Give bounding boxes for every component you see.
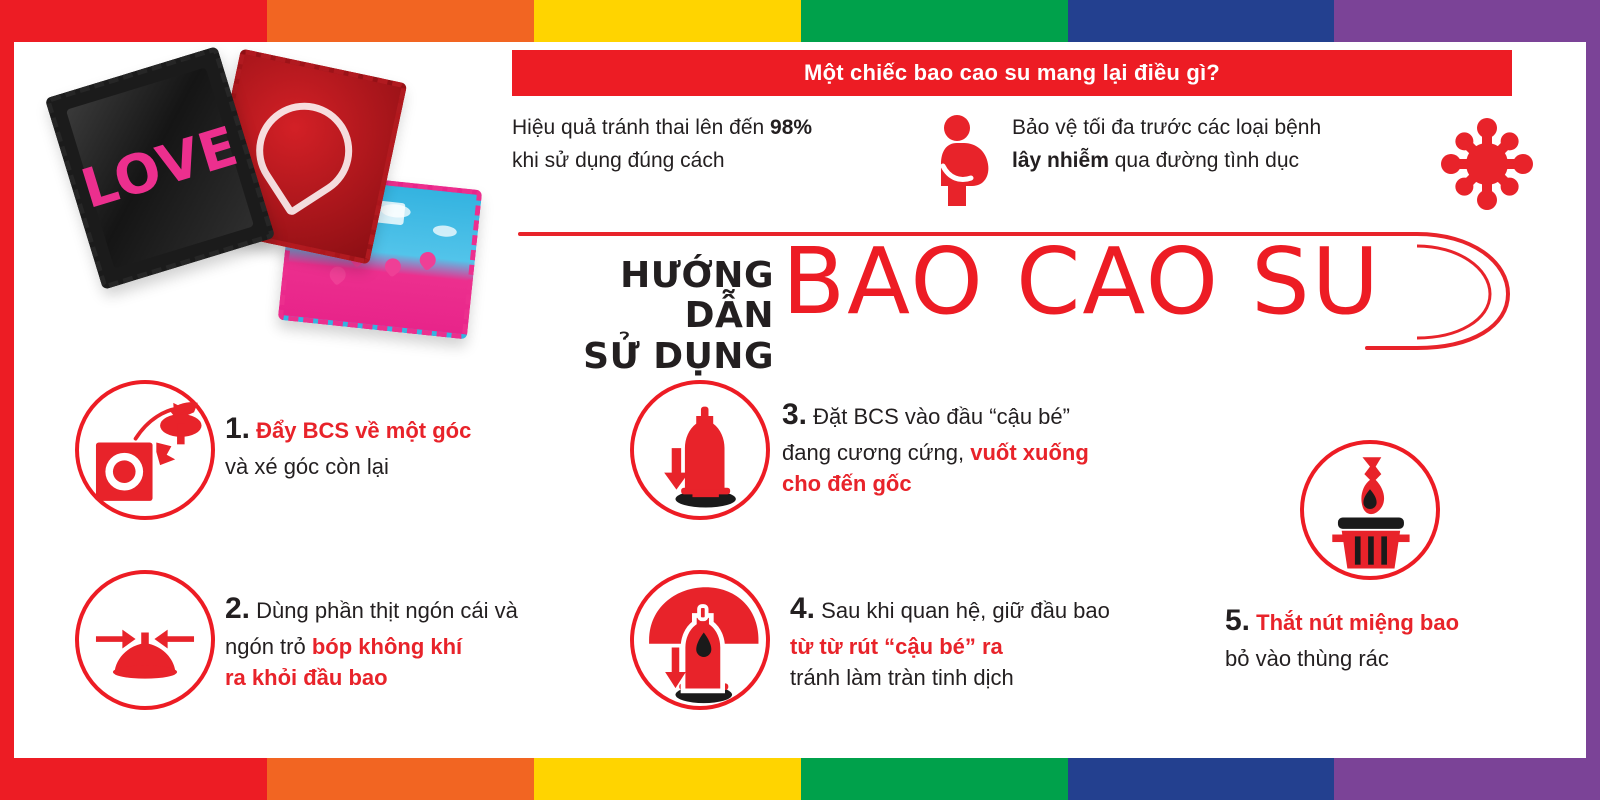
infographic-page: LOVE LOVE Một chiếc bao cao su mang lại … (0, 0, 1600, 800)
step-3-number: 3. (782, 398, 807, 431)
step-3-line-1: Đặt BCS vào đầu “cậu bé” (813, 404, 1070, 429)
fact-right-text-1: Bảo vệ tối đa trước các loại bệnh (1012, 116, 1321, 139)
squeeze-tip-arrows-icon (75, 570, 215, 710)
fact-right-bold: lây nhiễm (1012, 149, 1109, 172)
title-block: HƯỚNG DẪN SỬ DỤNG BAO CAO SU (512, 228, 1522, 358)
step-3-text: 3. Đặt BCS vào đầu “cậu bé” đang cương c… (782, 394, 1202, 499)
virus-icon (1437, 118, 1537, 210)
tie-knot-trash-icon (1300, 440, 1440, 580)
step-2-number: 2. (225, 592, 250, 625)
step-5-rest: bỏ vào thùng rác (1225, 646, 1389, 671)
step-3-line-2a: đang cương cứng, (782, 440, 970, 465)
step-4-number: 4. (790, 592, 815, 625)
title-line-1: HƯỚNG DẪN (524, 256, 774, 337)
step-2-line-2a: ngón trỏ (225, 634, 312, 659)
fact-left-bold: 98% (770, 116, 812, 139)
step-1-highlight: Đẩy BCS về một góc (256, 418, 471, 443)
step-4-text: 4. Sau khi quan hệ, giữ đầu bao từ từ rú… (790, 588, 1210, 693)
content-canvas: LOVE LOVE Một chiếc bao cao su mang lại … (0, 0, 1600, 800)
step-3-line-2b: vuốt xuống (970, 440, 1089, 465)
condom-packets-photo: LOVE LOVE (60, 60, 480, 350)
step-5-number: 5. (1225, 604, 1250, 637)
step-4-line-2: từ từ rút “cậu bé” ra (790, 634, 1003, 659)
title-subheading: HƯỚNG DẪN SỬ DỤNG (524, 256, 774, 377)
step-1-number: 1. (225, 412, 250, 445)
banner-title: Một chiếc bao cao su mang lại điều gì? (804, 60, 1220, 86)
step-2-line-3: ra khỏi đầu bao (225, 665, 388, 690)
step-3-line-3: cho đến gốc (782, 471, 912, 496)
tear-packet-corner-icon (75, 380, 215, 520)
step-2-line-2b: bóp không khí (312, 634, 462, 659)
fact-std-protection: Bảo vệ tối đa trước các loại bệnh lây nh… (1012, 112, 1432, 177)
step-5-text: 5. Thắt nút miệng bao bỏ vào thùng rác (1225, 600, 1525, 674)
header-banner: Một chiếc bao cao su mang lại điều gì? (512, 50, 1512, 96)
facts-row: Hiệu quả tránh thai lên đến 98% khi sử d… (512, 112, 1522, 212)
step-1-rest: và xé góc còn lại (225, 454, 389, 479)
step-2-line-1: Dùng phần thịt ngón cái và (256, 598, 518, 623)
hold-base-withdraw-icon (630, 570, 770, 710)
step-4-line-3: tránh làm tràn tinh dịch (790, 665, 1014, 690)
fact-left-text-1: Hiệu quả tránh thai lên đến (512, 116, 770, 139)
step-1-text: 1. Đẩy BCS về một góc và xé góc còn lại (225, 408, 605, 482)
step-5-highlight: Thắt nút miệng bao (1256, 610, 1459, 635)
pregnant-woman-icon (916, 114, 1002, 206)
title-line-2: SỬ DỤNG (524, 337, 774, 377)
step-4-line-1: Sau khi quan hệ, giữ đầu bao (821, 598, 1110, 623)
fact-right-text-2: qua đường tình dục (1109, 149, 1299, 172)
roll-condom-down-icon (630, 380, 770, 520)
fact-contraception: Hiệu quả tránh thai lên đến 98% khi sử d… (512, 112, 912, 177)
title-main: BAO CAO SU (782, 236, 1381, 328)
fact-left-text-2: khi sử dụng đúng cách (512, 149, 725, 172)
step-2-text: 2. Dùng phần thịt ngón cái và ngón trỏ b… (225, 588, 625, 693)
